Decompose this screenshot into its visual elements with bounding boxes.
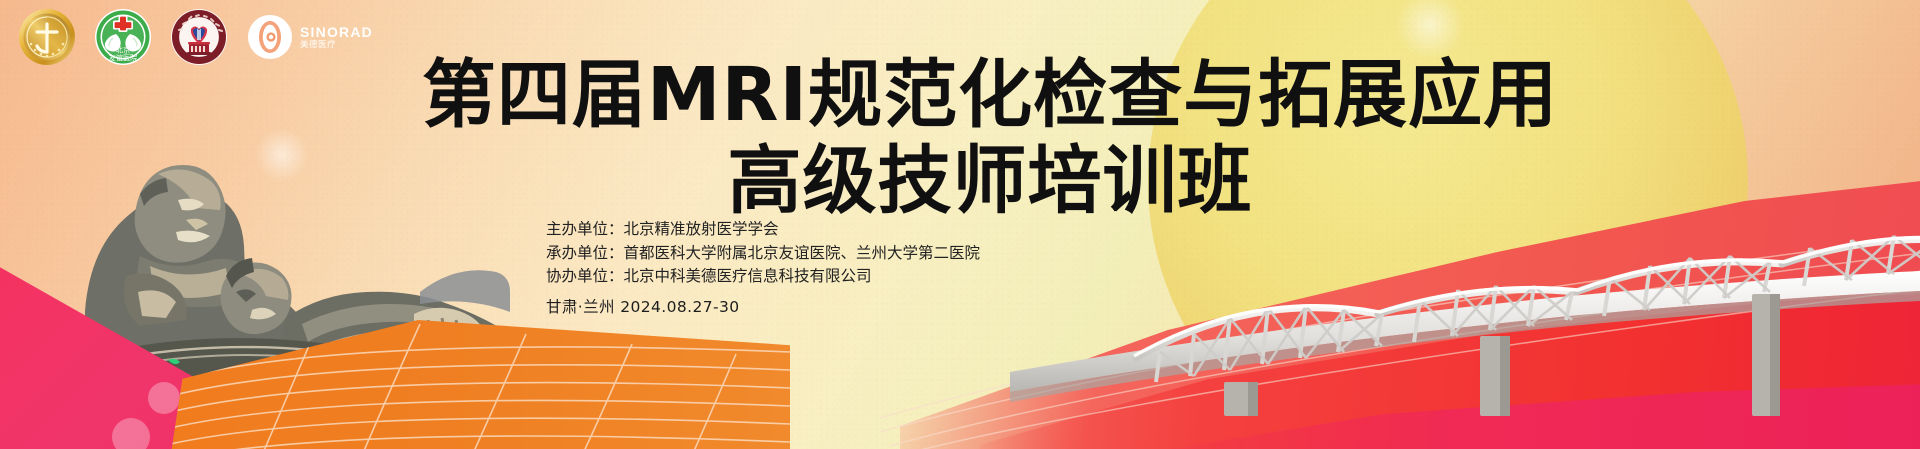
beijing-friendship-hospital-logo: 北京 友谊医院	[94, 8, 152, 66]
conference-banner: 北京 友谊医院	[0, 0, 1920, 449]
lanzhou-university-second-hospital-logo	[170, 8, 228, 66]
pink-decor-circle-1	[148, 382, 180, 414]
beijing-precision-radiology-society-logo	[18, 8, 76, 66]
organizer-line-coorganizer: 协办单位：北京中科美德医疗信息科技有限公司	[546, 265, 1186, 289]
organizer-line-host: 主办单位：北京精准放射医学学会	[546, 218, 1186, 242]
sinorad-wordmark-text: SINORAD	[300, 25, 373, 39]
pink-decor-circle-2	[112, 418, 150, 449]
organizer-info-block: 主办单位：北京精准放射医学学会 承办单位：首都医科大学附属北京友谊医院、兰州大学…	[546, 218, 1186, 319]
sinorad-wordmark-sub: 美德医疗	[300, 41, 373, 50]
sinorad-mark	[246, 13, 294, 61]
sponsor-logo-bar: 北京 友谊医院	[18, 6, 373, 68]
location-date-line: 甘肃·兰州 2024.08.27-30	[546, 296, 1186, 320]
hospital-logo-line2: 友谊医院	[109, 54, 138, 63]
sinorad-logo: SINORAD 美德医疗	[246, 13, 373, 61]
organizer-line-undertaker: 承办单位：首都医科大学附属北京友谊医院、兰州大学第二医院	[546, 242, 1186, 266]
